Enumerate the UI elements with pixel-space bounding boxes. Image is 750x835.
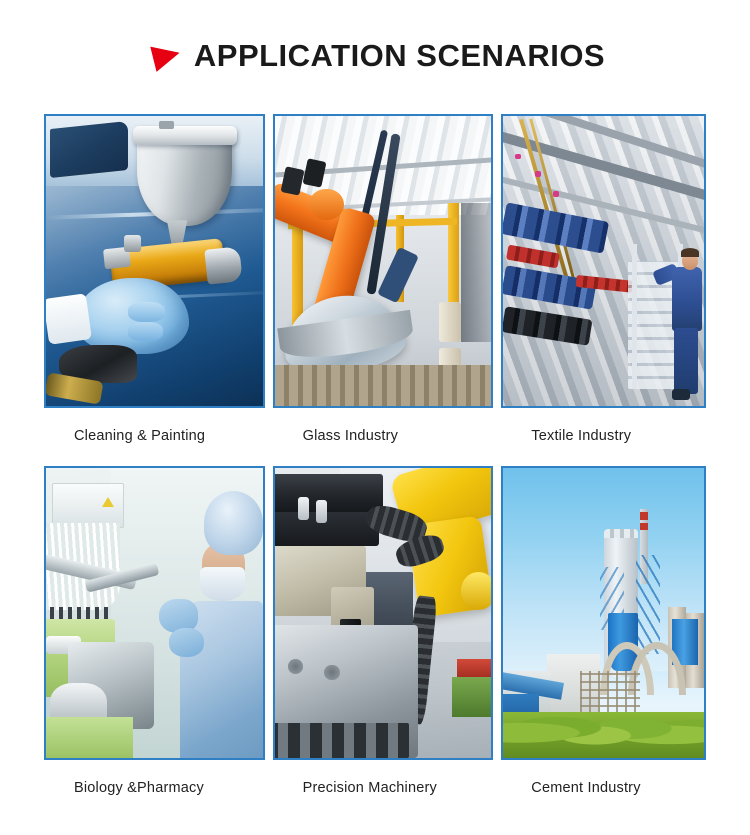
worker-shoe xyxy=(672,389,690,401)
technician-hair-cap xyxy=(204,491,262,555)
scenario-image-textile-industry[interactable] xyxy=(501,114,706,408)
scenario-image-precision-machinery[interactable] xyxy=(273,466,494,760)
warning-label-icon xyxy=(102,497,114,507)
conveyor-roller-1 xyxy=(439,302,461,343)
paint-cup-lid xyxy=(133,126,237,145)
tree-line xyxy=(501,712,706,760)
engine-bore-2 xyxy=(324,665,339,680)
page-title: APPLICATION SCENARIOS xyxy=(194,38,605,74)
gallery-item-glass-industry[interactable]: Glass Industry xyxy=(273,114,494,466)
alignment-pin-2 xyxy=(316,500,327,523)
machine-nozzle-row xyxy=(50,607,111,619)
robot-arm-joint xyxy=(461,572,493,610)
scenario-image-cement-industry[interactable] xyxy=(501,466,706,760)
background-shadow xyxy=(461,203,491,342)
engine-bore-1 xyxy=(288,659,303,674)
scenario-caption-cement-industry: Cement Industry xyxy=(501,760,706,818)
scenario-gallery: Cleaning & Painting xyxy=(44,114,706,818)
indicator-light-2 xyxy=(535,171,541,177)
gallery-item-biology-pharmacy[interactable]: Biology &Pharmacy xyxy=(44,466,265,818)
scenario-caption-cleaning-painting: Cleaning & Painting xyxy=(44,408,265,466)
scenario-image-glass-industry[interactable] xyxy=(273,114,494,408)
alignment-pin-1 xyxy=(298,497,309,520)
robot-arm-joint xyxy=(309,189,344,221)
gallery-row-1: Cleaning & Painting xyxy=(44,114,706,466)
machine-head-1 xyxy=(273,474,383,515)
scenario-image-biology-pharmacy[interactable] xyxy=(44,466,265,760)
car-window xyxy=(50,121,128,178)
platform-rail-left xyxy=(632,244,637,389)
steel-truss-1 xyxy=(636,555,660,654)
technician-glove-2 xyxy=(169,628,204,657)
worker-legs xyxy=(674,328,698,395)
gallery-item-textile-industry[interactable]: Textile Industry xyxy=(501,114,706,466)
triangle-right-icon xyxy=(150,40,182,72)
gallery-row-2: Biology &Pharmacy xyxy=(44,466,706,818)
worker-hair xyxy=(681,248,699,257)
scenario-caption-biology-pharmacy: Biology &Pharmacy xyxy=(44,760,265,818)
glove-finger-1 xyxy=(128,302,165,322)
technician-face-mask xyxy=(200,567,245,602)
page-header-inner: APPLICATION SCENARIOS xyxy=(153,38,605,74)
green-machine-base xyxy=(44,717,133,758)
scenario-caption-glass-industry: Glass Industry xyxy=(273,408,494,466)
glove-finger-2 xyxy=(128,322,163,341)
page-header: APPLICATION SCENARIOS xyxy=(0,0,750,114)
gallery-item-cement-industry[interactable]: Cement Industry xyxy=(501,466,706,818)
spray-gun-knob-top xyxy=(124,235,141,252)
background-greenery xyxy=(452,677,491,718)
engine-bearing-caps xyxy=(273,723,409,758)
chimney-band-2 xyxy=(640,523,648,530)
scenario-caption-textile-industry: Textile Industry xyxy=(501,408,706,466)
paint-cup-knob xyxy=(159,121,174,129)
conveyor-belt xyxy=(275,365,492,406)
sleeve-cuff xyxy=(44,293,92,345)
gallery-item-cleaning-painting[interactable]: Cleaning & Painting xyxy=(44,114,265,466)
chimney-band-1 xyxy=(640,512,648,521)
scenario-image-cleaning-painting[interactable] xyxy=(44,114,265,408)
robot-gripper xyxy=(377,247,419,303)
gallery-item-precision-machinery[interactable]: Precision Machinery xyxy=(273,466,494,818)
background-red-object xyxy=(457,659,492,676)
worker-torso xyxy=(672,267,702,331)
scenario-caption-precision-machinery: Precision Machinery xyxy=(273,760,494,818)
spray-gun-nozzle xyxy=(205,246,243,284)
